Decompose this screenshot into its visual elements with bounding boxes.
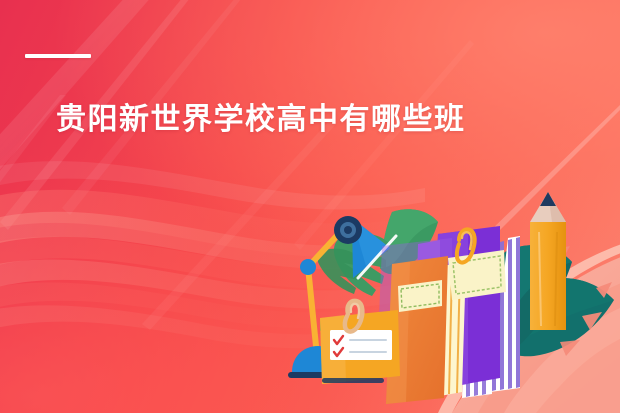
- lamp-joint: [300, 259, 316, 275]
- clipboard-paper: [330, 330, 392, 360]
- pencil: [530, 192, 566, 330]
- banner-illustration: [0, 0, 620, 413]
- clipboard-shadow: [322, 378, 384, 383]
- banner-image: 贵阳新世界学校高中有哪些班: [0, 0, 620, 413]
